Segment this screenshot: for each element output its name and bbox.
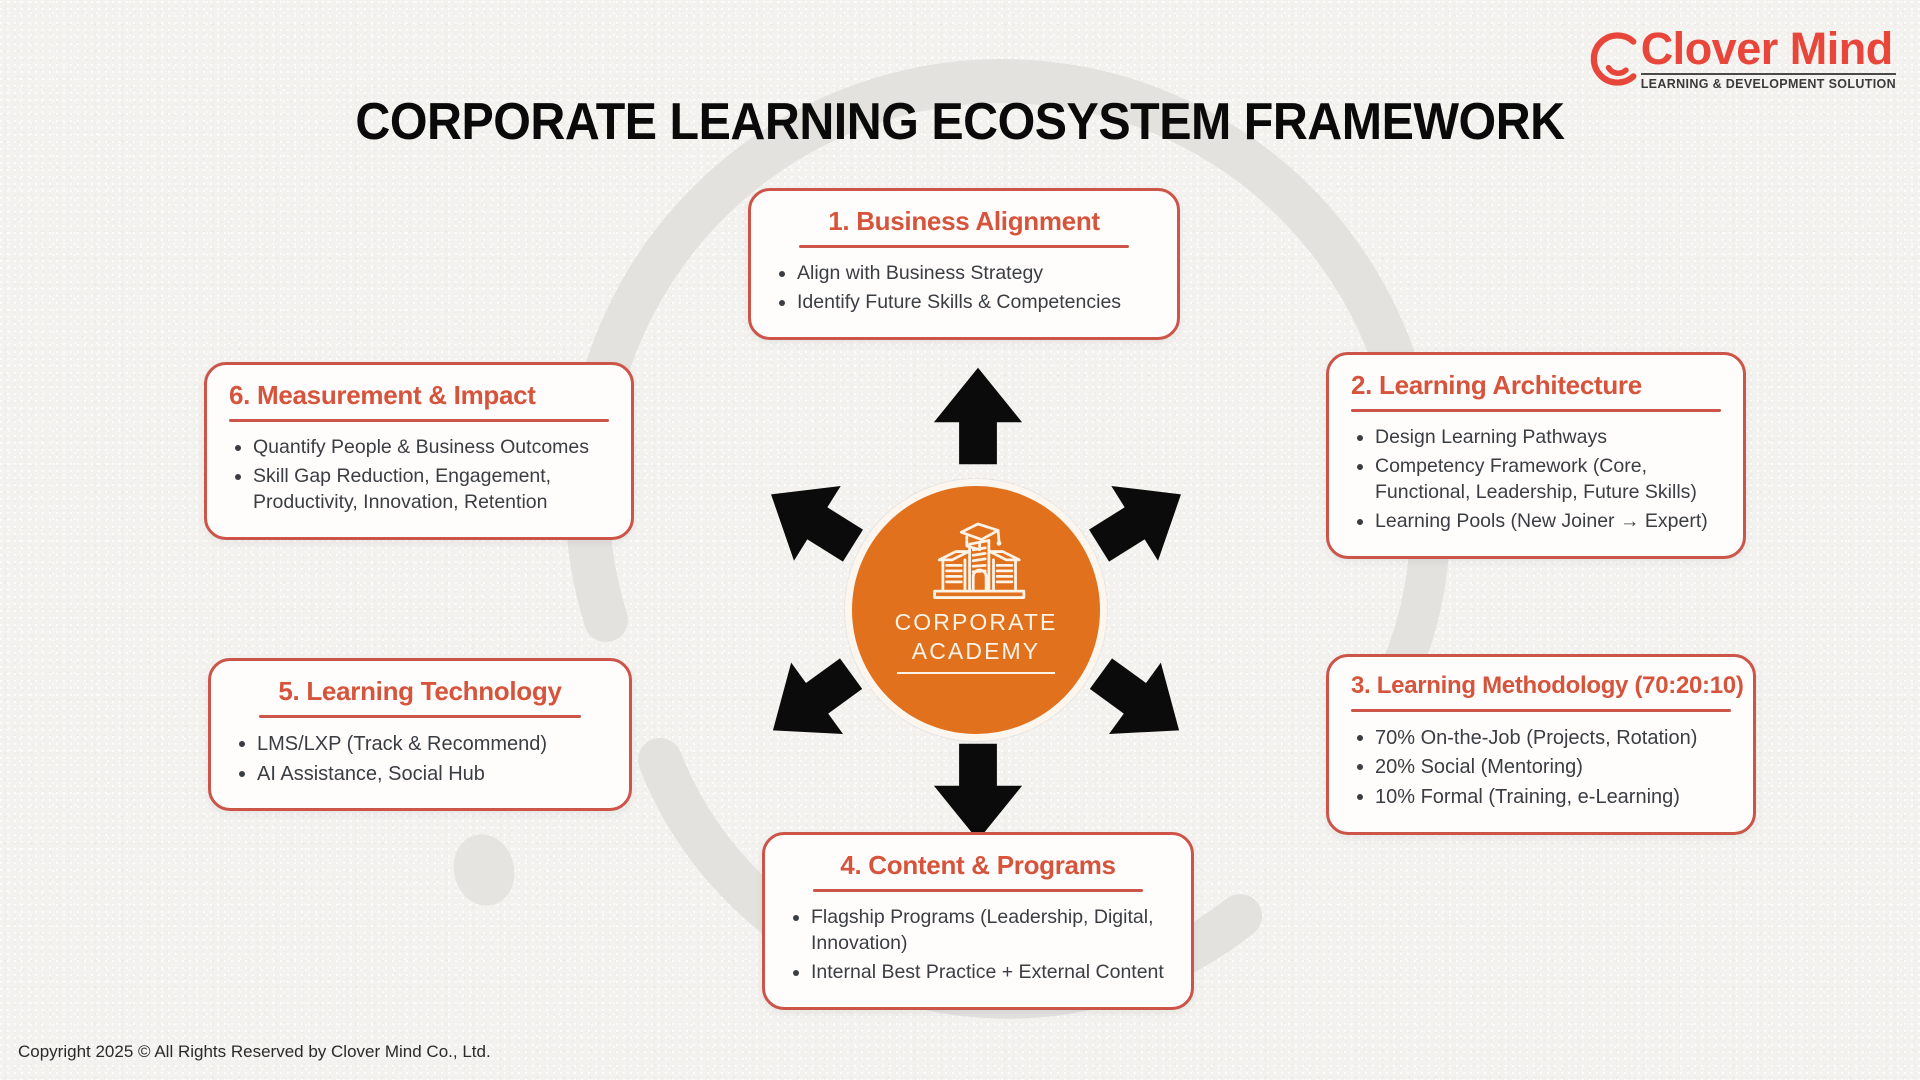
card-learning-architecture[interactable]: 2. Learning Architecture Design Learning… — [1326, 352, 1746, 559]
card-learning-methodology[interactable]: 3. Learning Methodology (70:20:10) 70% O… — [1326, 654, 1756, 835]
card-title: 6. Measurement & Impact — [229, 381, 609, 410]
list-item: Align with Business Strategy — [773, 261, 1155, 287]
card-business-alignment[interactable]: 1. Business Alignment Align with Busines… — [748, 188, 1180, 340]
arrow-down-icon — [934, 744, 1022, 841]
card-divider — [799, 245, 1129, 248]
list-item: 20% Social (Mentoring) — [1351, 754, 1731, 781]
card-title: 1. Business Alignment — [773, 207, 1155, 236]
list-item: LMS/LXP (Track & Recommend) — [233, 731, 607, 758]
list-item: Identify Future Skills & Competencies — [773, 290, 1155, 316]
card-bullet-list: LMS/LXP (Track & Recommend) AI Assistanc… — [233, 731, 607, 787]
card-divider — [1351, 409, 1721, 412]
list-item: Learning Pools (New Joiner → Expert) — [1351, 509, 1721, 535]
list-item: Flagship Programs (Leadership, Digital, … — [787, 905, 1169, 957]
card-bullet-list: Flagship Programs (Leadership, Digital, … — [787, 905, 1169, 986]
list-item: Design Learning Pathways — [1351, 425, 1721, 451]
card-divider — [813, 889, 1143, 892]
card-bullet-list: 70% On-the-Job (Projects, Rotation) 20% … — [1351, 725, 1731, 811]
card-title: 5. Learning Technology — [233, 677, 607, 706]
card-bullet-list: Design Learning Pathways Competency Fram… — [1351, 425, 1721, 535]
list-item: AI Assistance, Social Hub — [233, 761, 607, 788]
center-hub-line1: CORPORATE — [895, 608, 1058, 637]
center-hub-label: CORPORATE ACADEMY — [895, 608, 1058, 667]
center-hub[interactable]: CORPORATE ACADEMY — [845, 479, 1107, 741]
brand-tagline: LEARNING & DEVELOPMENT SOLUTION — [1641, 77, 1896, 91]
card-title: 3. Learning Methodology (70:20:10) — [1351, 673, 1731, 700]
list-item: Internal Best Practice + External Conten… — [787, 960, 1169, 986]
center-hub-circle: CORPORATE ACADEMY — [845, 479, 1107, 741]
card-divider — [1351, 709, 1731, 712]
card-measurement-and-impact[interactable]: 6. Measurement & Impact Quantify People … — [204, 362, 634, 540]
arrow-up-icon — [934, 368, 1022, 465]
list-item: Skill Gap Reduction, Engagement, Product… — [229, 464, 609, 516]
brand-divider — [1641, 73, 1896, 75]
list-item: 10% Formal (Training, e-Learning) — [1351, 784, 1731, 811]
card-learning-technology[interactable]: 5. Learning Technology LMS/LXP (Track & … — [208, 658, 632, 811]
card-content-and-programs[interactable]: 4. Content & Programs Flagship Programs … — [762, 832, 1194, 1010]
list-item: Quantify People & Business Outcomes — [229, 435, 609, 461]
card-bullet-list: Align with Business Strategy Identify Fu… — [773, 261, 1155, 316]
center-hub-underline — [897, 672, 1055, 675]
card-divider — [259, 715, 581, 718]
card-title: 2. Learning Architecture — [1351, 371, 1721, 400]
list-item: 70% On-the-Job (Projects, Rotation) — [1351, 725, 1731, 752]
footer-copyright: Copyright 2025 © All Rights Reserved by … — [18, 1042, 491, 1062]
card-title: 4. Content & Programs — [787, 851, 1169, 880]
brand-name: Clover Mind — [1641, 27, 1896, 70]
list-item: Competency Framework (Core, Functional, … — [1351, 454, 1721, 506]
academy-building-graduation-cap-icon — [920, 512, 1032, 604]
center-hub-line2: ACADEMY — [895, 637, 1058, 666]
page-title: CORPORATE LEARNING ECOSYSTEM FRAMEWORK — [67, 92, 1853, 152]
brand-logo[interactable]: Clover Mind LEARNING & DEVELOPMENT SOLUT… — [1585, 22, 1896, 96]
clover-c-arc-icon — [1585, 28, 1647, 90]
card-bullet-list: Quantify People & Business Outcomes Skil… — [229, 435, 609, 516]
card-divider — [229, 419, 609, 422]
